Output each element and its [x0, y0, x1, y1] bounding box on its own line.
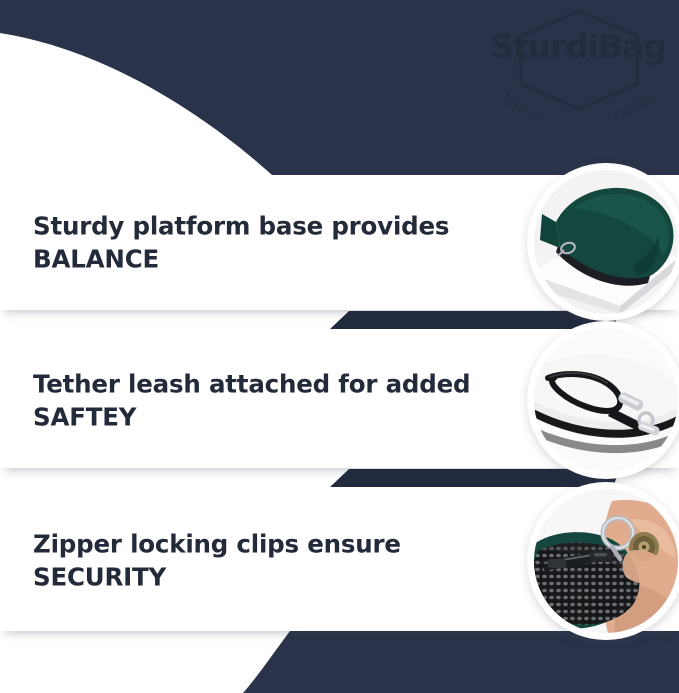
feature-line-2: SAFTEY	[33, 401, 503, 434]
brand-tagline: FLEX-HEIGHT PET CARRIER	[489, 90, 667, 116]
feature-line-1: Tether leash attached for added	[33, 367, 503, 400]
brand-logo: SturdiBag FLEX-HEIGHT PET CARRIER	[489, 6, 667, 118]
photo-zipper-clips	[527, 482, 679, 640]
brand-wordmark: SturdiBag	[489, 30, 667, 63]
feature-line-2: SECURITY	[33, 561, 503, 594]
feature-text-balance: Sturdy platform base provides BALANCE	[33, 209, 503, 276]
feature-line-2: BALANCE	[33, 243, 503, 276]
feature-line-1: Zipper locking clips ensure	[33, 528, 503, 561]
photo-platform-base-image	[534, 170, 678, 314]
infographic-page: SturdiBag FLEX-HEIGHT PET CARRIER Sturdy…	[0, 0, 679, 693]
photo-tether-leash-image	[534, 328, 678, 472]
brand-tagline-text: FLEX-HEIGHT PET CARRIER	[500, 92, 655, 116]
svg-text:FLEX-HEIGHT PET CARRIER: FLEX-HEIGHT PET CARRIER	[500, 92, 655, 116]
photo-zipper-clips-image	[534, 489, 678, 633]
feature-text-security: Zipper locking clips ensure SECURITY	[33, 528, 503, 595]
feature-line-1: Sturdy platform base provides	[33, 209, 503, 242]
feature-text-saftey: Tether leash attached for added SAFTEY	[33, 367, 503, 434]
photo-platform-base	[527, 163, 679, 321]
photo-tether-leash	[527, 321, 679, 479]
bottom-navy-shape	[243, 631, 679, 693]
